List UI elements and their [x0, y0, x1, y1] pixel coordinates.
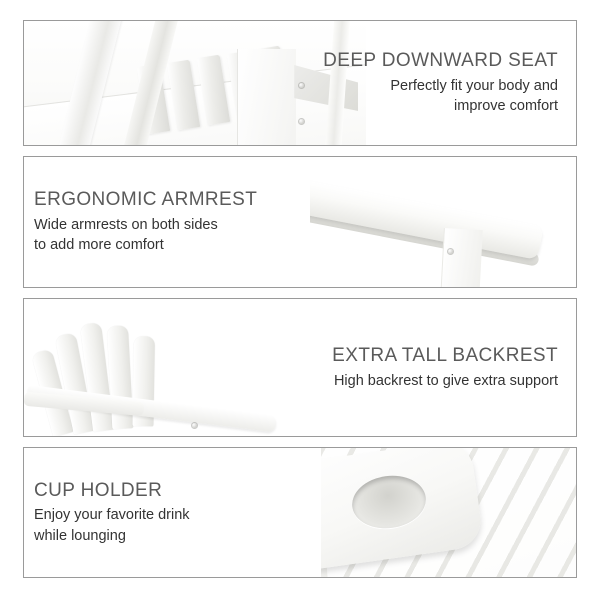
- feature-text-deep-downward-seat: DEEP DOWNWARD SEAT Perfectly fit your bo…: [304, 21, 576, 145]
- feature-title: ERGONOMIC ARMREST: [34, 188, 257, 212]
- feature-text-extra-tall-backrest: EXTRA TALL BACKREST High backrest to giv…: [304, 299, 576, 436]
- feature-panel-ergonomic-armrest: ERGONOMIC ARMREST Wide armrests on both …: [23, 156, 577, 288]
- feature-title: CUP HOLDER: [34, 479, 162, 503]
- backrest-slat-group: [32, 307, 164, 436]
- feature-description-line: Perfectly fit your body and: [390, 78, 558, 94]
- feature-description: Perfectly fit your body and improve comf…: [390, 76, 558, 117]
- feature-panel-deep-downward-seat: DEEP DOWNWARD SEAT Perfectly fit your bo…: [23, 20, 577, 146]
- feature-description-line: to add more comfort: [34, 237, 164, 253]
- feature-text-cup-holder: CUP HOLDER Enjoy your favorite drink whi…: [24, 448, 321, 577]
- feature-panel-extra-tall-backrest: EXTRA TALL BACKREST High backrest to giv…: [23, 298, 577, 437]
- feature-description-line: improve comfort: [454, 98, 558, 114]
- feature-description-line: while lounging: [34, 528, 126, 544]
- feature-text-ergonomic-armrest: ERGONOMIC ARMREST Wide armrests on both …: [24, 157, 310, 287]
- feature-description-line: Wide armrests on both sides: [34, 217, 218, 233]
- feature-description-line: High backrest to give extra support: [334, 373, 558, 389]
- feature-panel-cup-holder: CUP HOLDER Enjoy your favorite drink whi…: [23, 447, 577, 578]
- feature-infographic: DEEP DOWNWARD SEAT Perfectly fit your bo…: [0, 0, 600, 600]
- feature-description: Wide armrests on both sides to add more …: [34, 215, 218, 256]
- feature-description: Enjoy your favorite drink while lounging: [34, 505, 190, 546]
- feature-title: DEEP DOWNWARD SEAT: [323, 49, 558, 73]
- feature-description-line: Enjoy your favorite drink: [34, 507, 190, 523]
- feature-description: High backrest to give extra support: [334, 371, 558, 392]
- feature-title: EXTRA TALL BACKREST: [332, 344, 558, 368]
